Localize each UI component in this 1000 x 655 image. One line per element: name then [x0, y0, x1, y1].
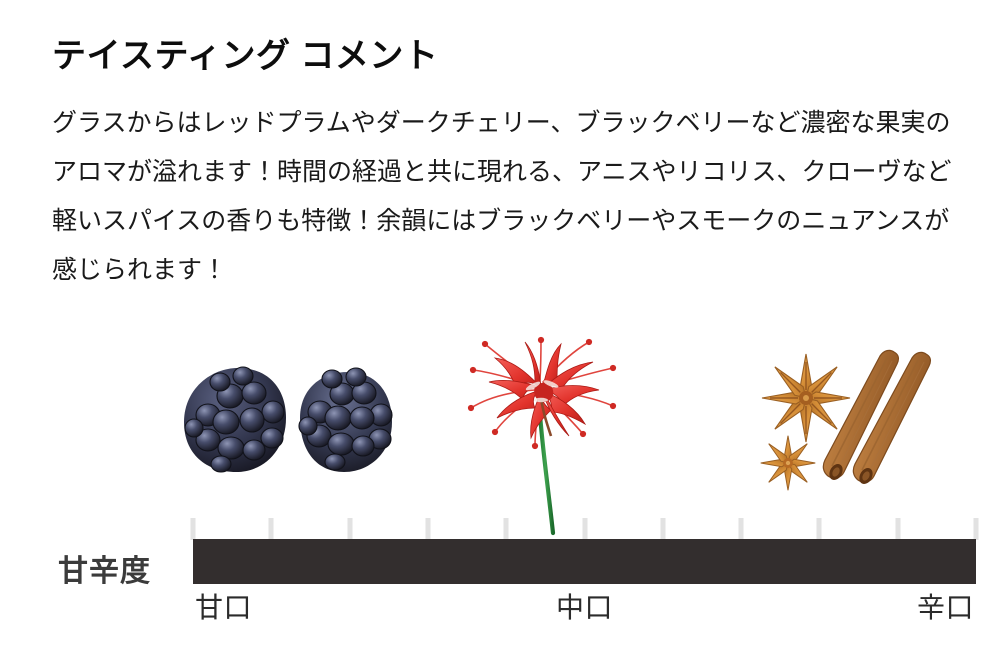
scale-tick	[582, 518, 587, 540]
sweetness-scale: 甘辛度 甘口 中口 辛口	[0, 518, 1000, 638]
blackberry-icon	[168, 360, 398, 480]
scale-tick	[895, 518, 900, 540]
scale-tick	[739, 518, 744, 540]
scale-tick	[425, 518, 430, 540]
scale-tick	[269, 518, 274, 540]
tasting-comment-page: テイスティング コメント グラスからはレッドプラムやダークチェリー、ブラックベリ…	[0, 0, 1000, 655]
tasting-comment-text: グラスからはレッドプラムやダークチェリー、ブラックベリーなど濃密な果実のアロマが…	[52, 99, 957, 295]
scale-tick-row	[193, 518, 976, 540]
scale-tick	[974, 518, 979, 540]
aroma-illustration-band	[0, 320, 1000, 525]
scale-tick	[191, 518, 196, 540]
scale-tick	[817, 518, 822, 540]
scale-axis-label-dry: 辛口	[917, 586, 974, 626]
scale-tick	[347, 518, 352, 540]
page-title: テイスティング コメント	[52, 35, 438, 78]
star-anise-cinnamon-icon	[748, 348, 958, 493]
spider-lily-icon	[455, 328, 630, 533]
sweetness-scale-label: 甘辛度	[58, 546, 151, 590]
scale-tick	[660, 518, 665, 540]
scale-axis-label-medium: 中口	[556, 586, 613, 626]
scale-axis-label-sweet: 甘口	[195, 586, 252, 626]
scale-tick	[504, 518, 509, 540]
scale-track[interactable]: 甘口 中口 辛口	[193, 518, 976, 638]
scale-axis-labels: 甘口 中口 辛口	[193, 586, 976, 630]
scale-bar-fill	[193, 539, 976, 584]
